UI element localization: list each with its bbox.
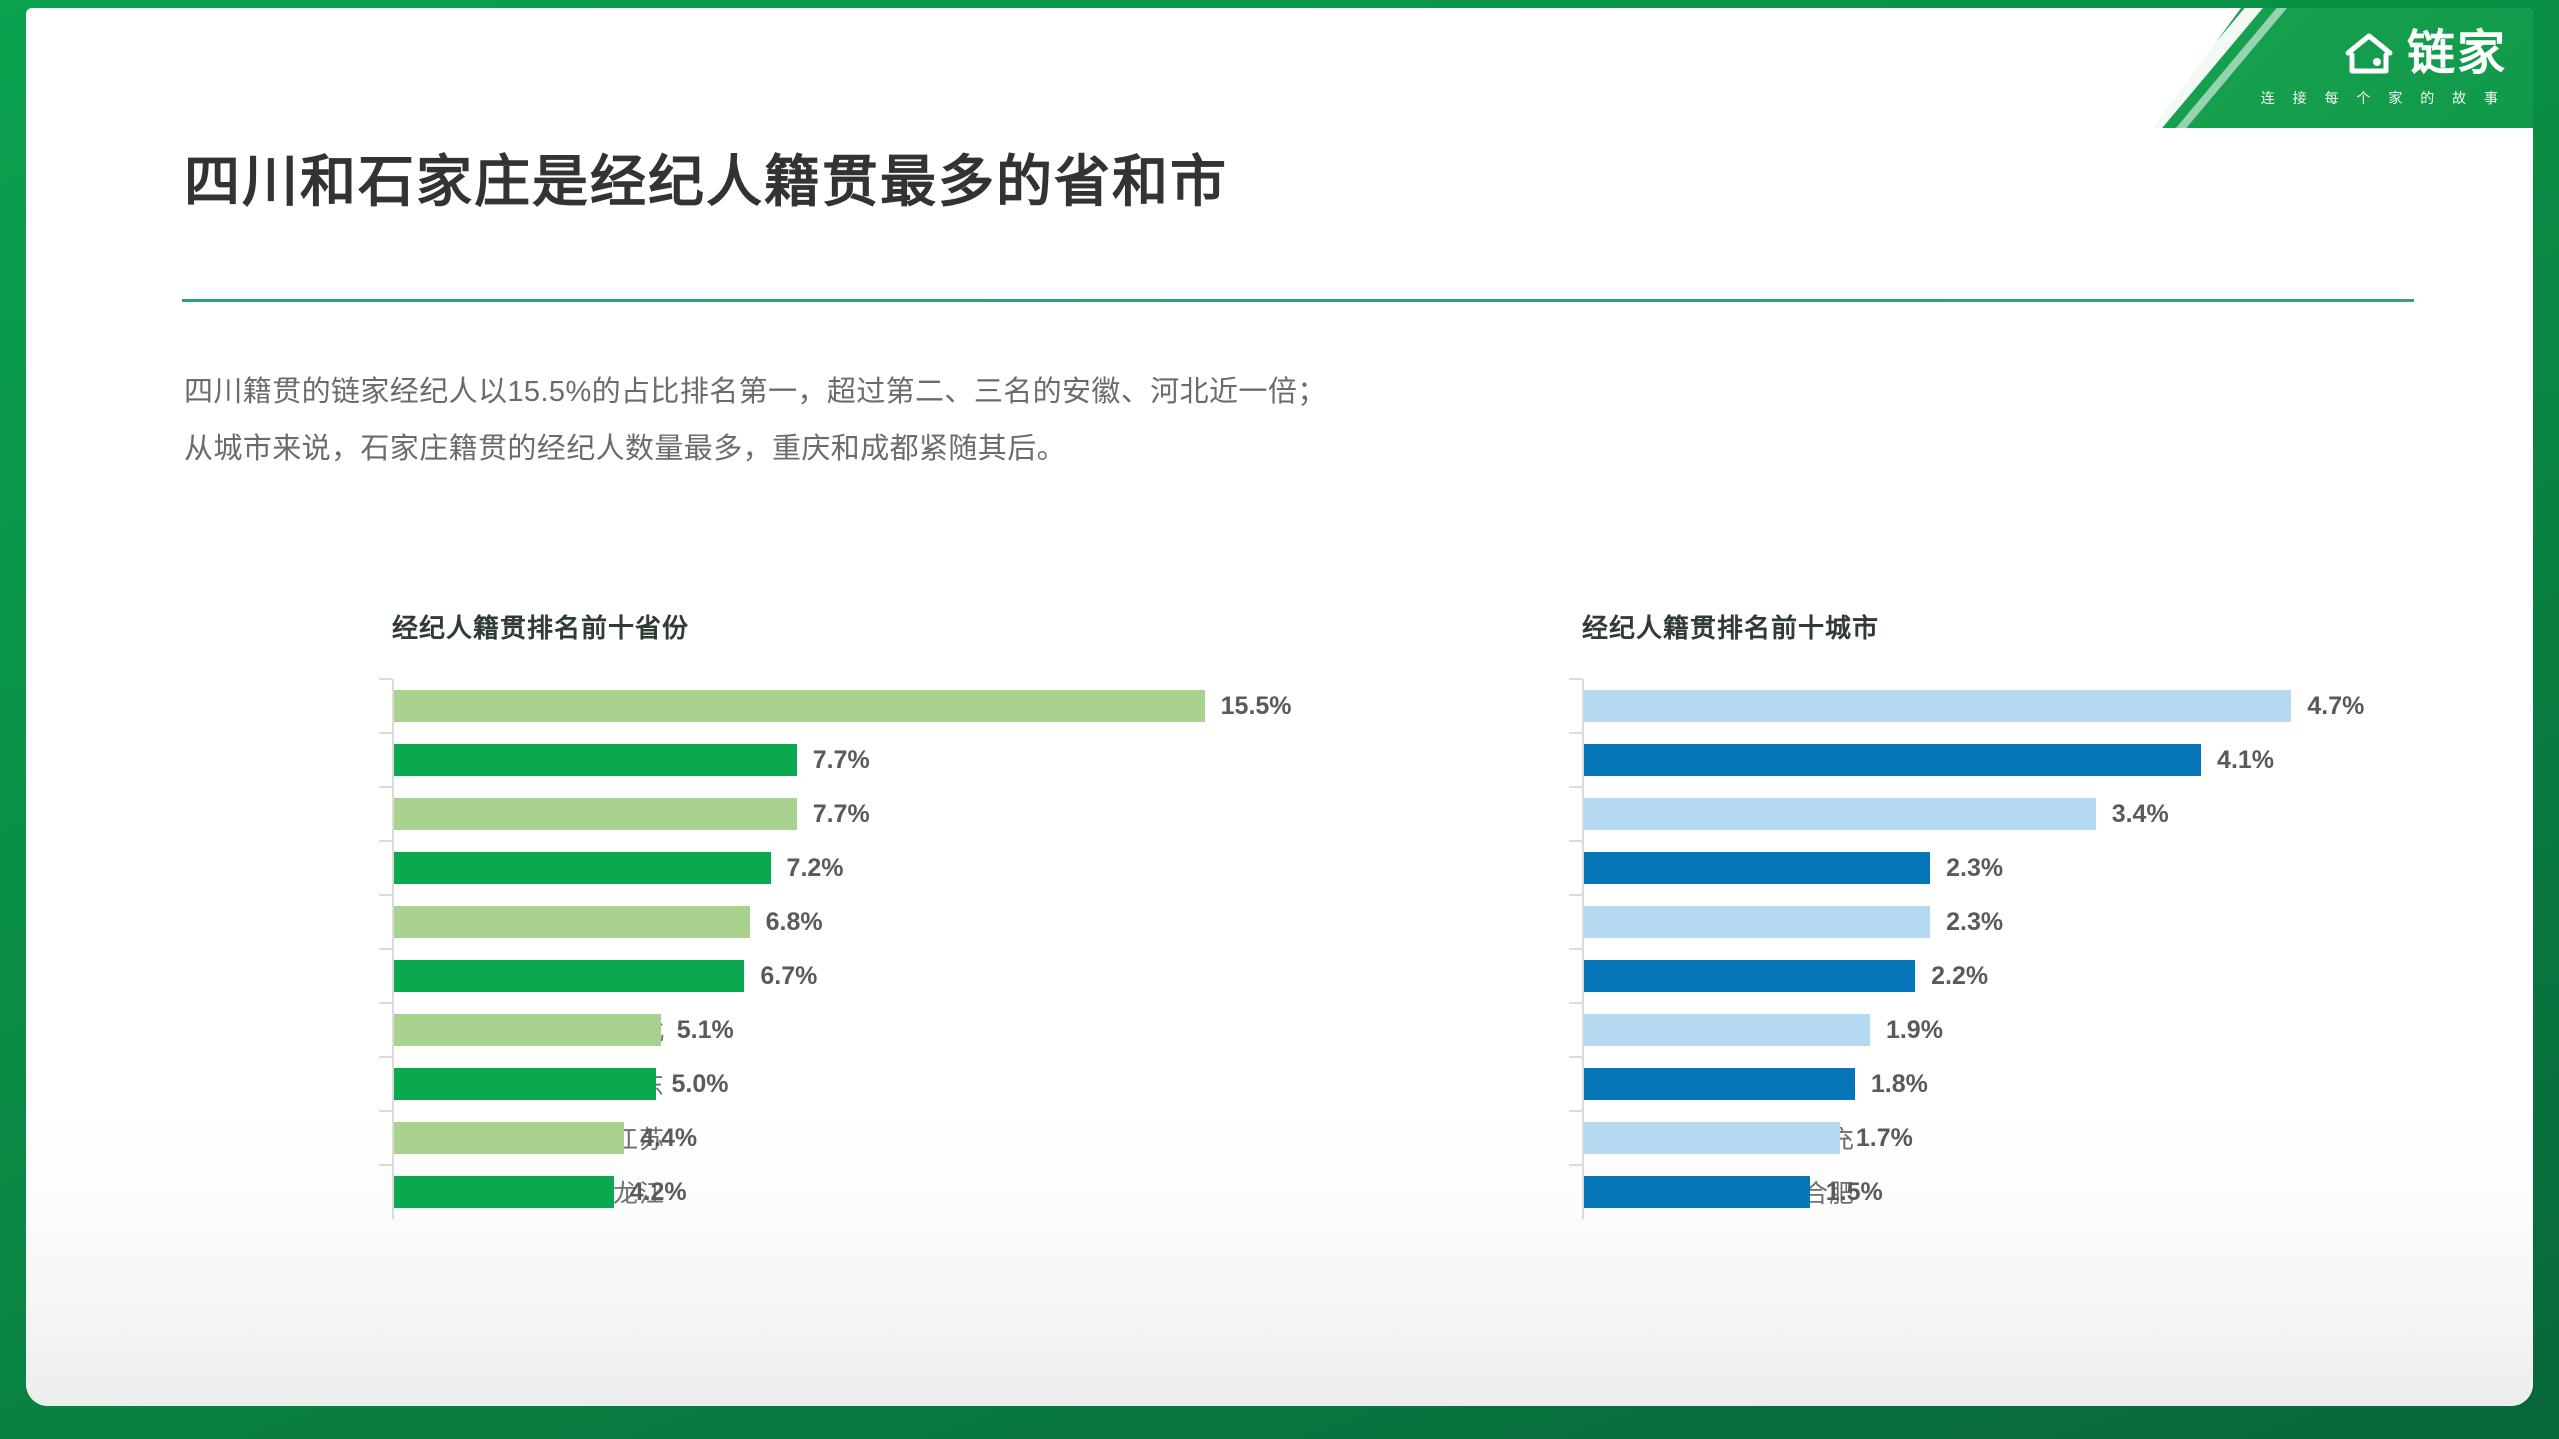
axis-tick: [379, 894, 392, 896]
bar-provinces-6: [394, 1014, 661, 1046]
axis-tick: [379, 840, 392, 842]
bar-value-label: 7.2%: [787, 852, 844, 884]
axis-tick: [379, 1164, 392, 1166]
bar-chart-cities: 石家庄4.7%重庆4.1%成都3.4%郑州2.3%沈阳2.3%哈尔滨2.2%济南…: [1582, 679, 1879, 1219]
bar-cities-0: [1584, 690, 2291, 722]
axis-tick: [1569, 1110, 1582, 1112]
bar-provinces-3: [394, 852, 771, 884]
bar-provinces-4: [394, 906, 750, 938]
bar-value-label: 2.2%: [1931, 960, 1988, 992]
bar-value-label: 7.7%: [813, 744, 870, 776]
axis-tick: [1569, 1056, 1582, 1058]
axis-tick: [379, 732, 392, 734]
lead-line-2: 从城市来说，石家庄籍贯的经纪人数量最多，重庆和成都紧随其后。: [184, 421, 1327, 478]
bar-cities-9: [1584, 1176, 1810, 1208]
slide-frame: 链家 连 接 每 个 家 的 故 事 四川和石家庄是经纪人籍贯最多的省和市 四川…: [0, 0, 2559, 1439]
bar-cities-8: [1584, 1122, 1840, 1154]
bar-row: 成都3.4%: [1582, 787, 1879, 841]
lead-line-1: 四川籍贯的链家经纪人以15.5%的占比排名第一，超过第二、三名的安徽、河北近一倍…: [184, 364, 1327, 421]
logo-tagline: 连 接 每 个 家 的 故 事: [2261, 88, 2505, 108]
bar-value-label: 5.0%: [672, 1068, 729, 1100]
bar-provinces-7: [394, 1068, 656, 1100]
bar-row: 江苏4.4%: [392, 1111, 689, 1165]
bar-row: 辽宁6.7%: [392, 949, 689, 1003]
bar-value-label: 2.3%: [1946, 906, 2003, 938]
bar-provinces-8: [394, 1122, 624, 1154]
bar-provinces-0: [394, 690, 1205, 722]
bar-cities-7: [1584, 1068, 1855, 1100]
bar-value-label: 6.7%: [760, 960, 817, 992]
bar-row: 河南7.2%: [392, 841, 689, 895]
axis-tick: [1569, 948, 1582, 950]
bar-provinces-5: [394, 960, 744, 992]
bar-cities-1: [1584, 744, 2201, 776]
chart-panel-provinces: 经纪人籍贯排名前十省份 四川15.5%安徽7.7%河北7.7%河南7.2%山东6…: [392, 608, 689, 1219]
bar-row: 哈尔滨2.2%: [1582, 949, 1879, 1003]
bar-chart-provinces: 四川15.5%安徽7.7%河北7.7%河南7.2%山东6.8%辽宁6.7%湖北5…: [392, 679, 689, 1219]
axis-tick: [1569, 840, 1582, 842]
axis-tick: [379, 786, 392, 788]
axis-tick: [1569, 1164, 1582, 1166]
bar-value-label: 3.4%: [2112, 798, 2169, 830]
chart-panel-cities: 经纪人籍贯排名前十城市 石家庄4.7%重庆4.1%成都3.4%郑州2.3%沈阳2…: [1582, 608, 1879, 1219]
bar-row: 天津1.8%: [1582, 1057, 1879, 1111]
bar-value-label: 15.5%: [1221, 690, 1292, 722]
bar-value-label: 1.8%: [1871, 1068, 1928, 1100]
bar-row: 安徽7.7%: [392, 733, 689, 787]
axis-tick: [1569, 894, 1582, 896]
bar-row: 石家庄4.7%: [1582, 679, 1879, 733]
bar-row: 济南1.9%: [1582, 1003, 1879, 1057]
bar-row: 四川15.5%: [392, 679, 689, 733]
page-title: 四川和石家庄是经纪人籍贯最多的省和市: [184, 150, 1228, 214]
bar-cities-5: [1584, 960, 1915, 992]
axis-tick: [379, 1002, 392, 1004]
axis-tick: [379, 1110, 392, 1112]
bar-value-label: 7.7%: [813, 798, 870, 830]
logo-content: 链家 连 接 每 个 家 的 故 事: [2261, 30, 2507, 108]
axis-tick: [379, 948, 392, 950]
axis-tick: [1569, 732, 1582, 734]
bar-cities-6: [1584, 1014, 1870, 1046]
bar-row: 黑龙江4.2%: [392, 1165, 689, 1219]
axis-tick: [1569, 1002, 1582, 1004]
title-divider: [182, 299, 2414, 302]
axis-tick: [379, 1056, 392, 1058]
bar-row: 郑州2.3%: [1582, 841, 1879, 895]
bar-row: 湖北5.1%: [392, 1003, 689, 1057]
bar-value-label: 6.8%: [766, 906, 823, 938]
bar-row: 重庆4.1%: [1582, 733, 1879, 787]
charts-container: 经纪人籍贯排名前十省份 四川15.5%安徽7.7%河北7.7%河南7.2%山东6…: [26, 608, 2533, 1288]
bar-value-label: 1.5%: [1826, 1176, 1883, 1208]
logo-row: 链家: [2343, 30, 2507, 78]
bar-value-label: 4.2%: [630, 1176, 687, 1208]
bar-provinces-1: [394, 744, 797, 776]
bar-provinces-2: [394, 798, 797, 830]
bar-value-label: 4.7%: [2307, 690, 2364, 722]
brand-logo-banner: 链家 连 接 每 个 家 的 故 事: [2113, 8, 2533, 128]
bar-row: 合肥1.5%: [1582, 1165, 1879, 1219]
bar-row: 广东5.0%: [392, 1057, 689, 1111]
house-icon: [2343, 31, 2395, 77]
bar-cities-3: [1584, 852, 1930, 884]
lead-paragraph: 四川籍贯的链家经纪人以15.5%的占比排名第一，超过第二、三名的安徽、河北近一倍…: [184, 364, 1327, 477]
bar-row: 南充1.7%: [1582, 1111, 1879, 1165]
bar-row: 河北7.7%: [392, 787, 689, 841]
slide-card: 链家 连 接 每 个 家 的 故 事 四川和石家庄是经纪人籍贯最多的省和市 四川…: [26, 8, 2533, 1406]
axis-tick: [379, 678, 392, 680]
bar-row: 沈阳2.3%: [1582, 895, 1879, 949]
chart-title-cities: 经纪人籍贯排名前十城市: [1582, 608, 1879, 645]
bar-value-label: 4.4%: [640, 1122, 697, 1154]
bar-cities-4: [1584, 906, 1930, 938]
bar-row: 山东6.8%: [392, 895, 689, 949]
bar-provinces-9: [394, 1176, 614, 1208]
axis-tick: [1569, 678, 1582, 680]
bar-value-label: 1.7%: [1856, 1122, 1913, 1154]
logo-wordmark: 链家: [2407, 30, 2507, 78]
bar-cities-2: [1584, 798, 2096, 830]
axis-tick: [1569, 786, 1582, 788]
bar-value-label: 5.1%: [677, 1014, 734, 1046]
chart-title-provinces: 经纪人籍贯排名前十省份: [392, 608, 689, 645]
bar-value-label: 1.9%: [1886, 1014, 1943, 1046]
bar-value-label: 2.3%: [1946, 852, 2003, 884]
bar-value-label: 4.1%: [2217, 744, 2274, 776]
